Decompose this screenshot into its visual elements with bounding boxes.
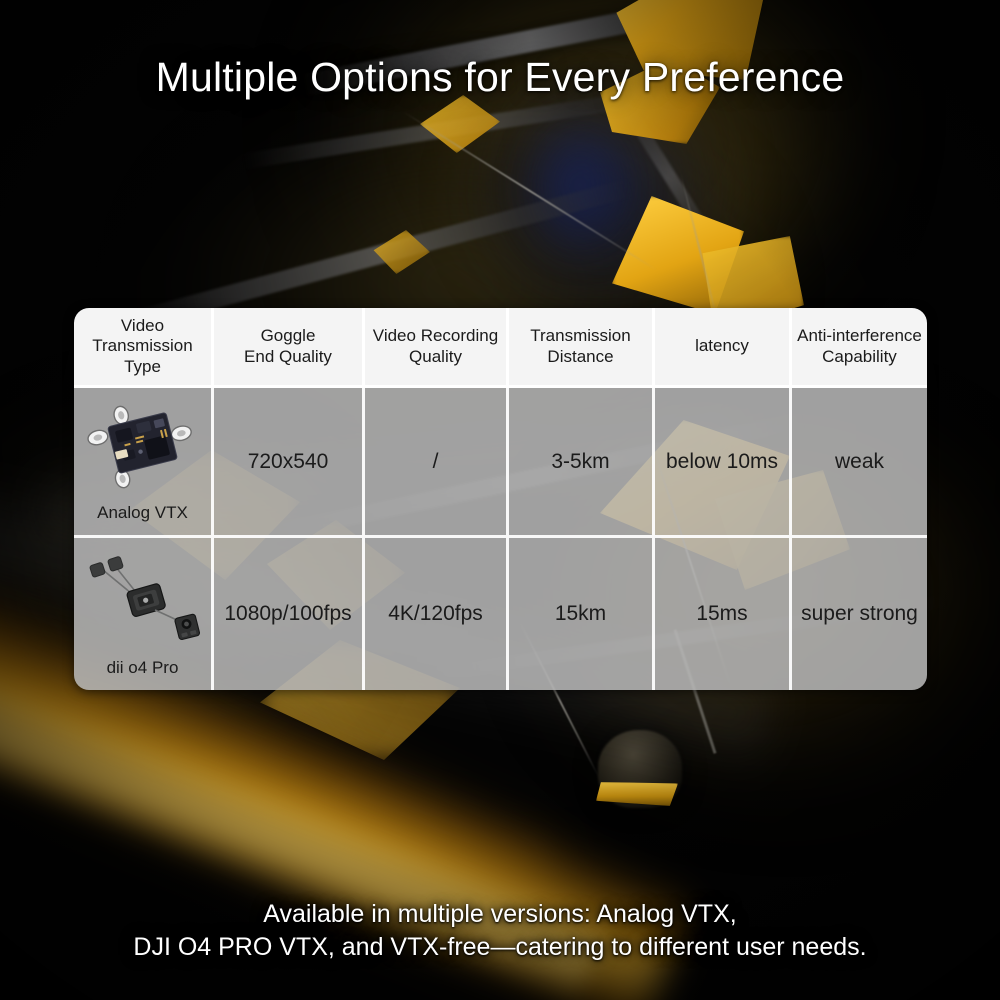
cell-goggle-end-quality-o4pro: 1080p/100fps (214, 538, 365, 690)
col-header-line: Distance (530, 347, 630, 367)
comparison-table: Video Transmission Type Goggle End Quali… (74, 308, 927, 690)
cell-latency-o4pro: 15ms (655, 538, 792, 690)
page-title: Multiple Options for Every Preference (0, 54, 1000, 101)
col-header-line: Anti-interference (797, 326, 922, 346)
cell-product-analog-vtx: Analog VTX (74, 388, 214, 538)
col-header-line: Video Recording (373, 326, 498, 346)
cell-goggle-end-quality-analog: 720x540 (214, 388, 365, 538)
caption-line-1: Available in multiple versions: Analog V… (263, 900, 736, 928)
footer-caption: Available in multiple versions: Analog V… (0, 898, 1000, 964)
cell-anti-interference-o4pro: super strong (792, 538, 927, 690)
table-header-row: Video Transmission Type Goggle End Quali… (74, 308, 927, 388)
column-header-video-transmission-type: Video Transmission Type (74, 308, 214, 388)
caption-line-2: DJI O4 PRO VTX, and VTX-free—catering to… (0, 931, 1000, 964)
column-header-anti-interference-capability: Anti-interference Capability (792, 308, 927, 388)
col-header-line: End Quality (244, 347, 332, 367)
column-header-goggle-end-quality: Goggle End Quality (214, 308, 365, 388)
col-header-line: Capability (797, 347, 922, 367)
cell-video-recording-quality-o4pro: 4K/120fps (365, 538, 509, 690)
col-header-line: latency (695, 336, 749, 356)
dji-o4-pro-air-unit-image (74, 544, 211, 658)
table-row: dii o4 Pro 1080p/100fps 4K/120fps 15km 1… (74, 538, 927, 690)
col-header-line: Video (92, 316, 192, 336)
cell-transmission-distance-o4pro: 15km (509, 538, 655, 690)
col-header-line: Transmission (530, 326, 630, 346)
col-header-line: Quality (373, 347, 498, 367)
column-header-transmission-distance: Transmission Distance (509, 308, 655, 388)
col-header-line: Type (92, 357, 192, 377)
product-label: Analog VTX (97, 503, 188, 523)
product-label: dii o4 Pro (107, 658, 179, 678)
cell-latency-analog: below 10ms (655, 388, 792, 538)
cell-video-recording-quality-analog: / (365, 388, 509, 538)
col-header-line: Goggle (244, 326, 332, 346)
column-header-video-recording-quality: Video Recording Quality (365, 308, 509, 388)
cell-anti-interference-analog: weak (792, 388, 927, 538)
col-header-line: Transmission (92, 336, 192, 356)
table-row: Analog VTX 720x540 / 3-5km below 10ms we… (74, 388, 927, 538)
cell-transmission-distance-analog: 3-5km (509, 388, 655, 538)
analog-vtx-board-image (74, 394, 211, 503)
column-header-latency: latency (655, 308, 792, 388)
cell-product-dji-o4-pro: dii o4 Pro (74, 538, 214, 690)
